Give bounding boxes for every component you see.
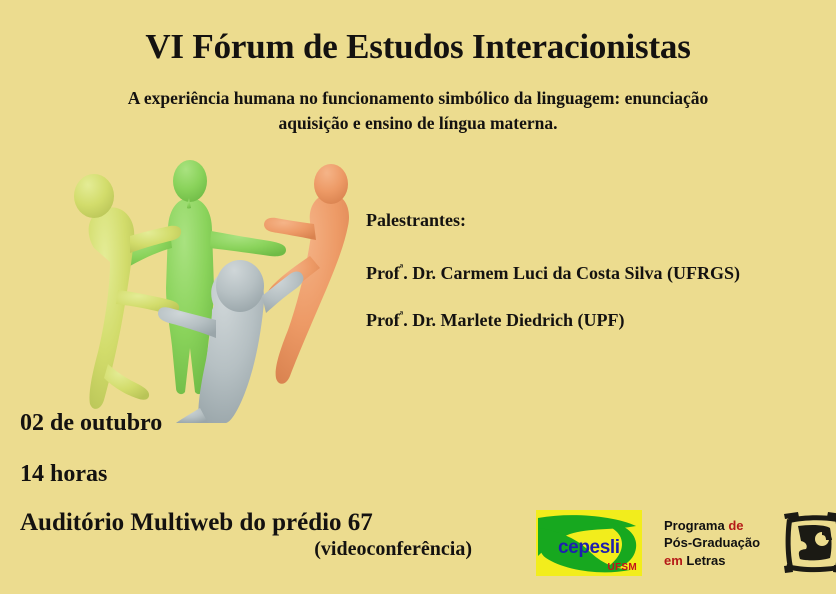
people-circle-illustration xyxy=(18,138,366,423)
speakers-block: Palestrantes: Profª. Dr. Carmem Luci da … xyxy=(366,210,826,331)
poster-canvas: VI Fórum de Estudos Interacionistas A ex… xyxy=(0,0,836,594)
ppg-de: de xyxy=(728,518,743,533)
figure-orange xyxy=(264,164,349,384)
speaker-prefix: Prof xyxy=(366,263,400,283)
figure-yellow xyxy=(74,174,181,409)
page-title: VI Fórum de Estudos Interacionistas xyxy=(0,28,836,67)
ppg-line-1: Programa de xyxy=(664,517,760,534)
letras-charcoal-square-mark xyxy=(782,508,836,578)
speaker-item: Profª. Dr. Carmem Luci da Costa Silva (U… xyxy=(366,263,826,284)
cepesli-wordmark: cepesli xyxy=(558,537,620,559)
speaker-prefix: Prof xyxy=(366,310,400,330)
ppg-line-3: em Letras xyxy=(664,552,760,569)
event-date: 02 de outubro xyxy=(20,410,490,437)
event-details: 02 de outubro 14 horas Auditório Multiwe… xyxy=(20,410,490,561)
event-venue-note: (videoconferência) xyxy=(20,538,490,561)
ppg-em: em xyxy=(664,553,686,568)
ppg-letras: Letras xyxy=(686,553,725,568)
speaker-name: . Dr. Carmem Luci da Costa Silva (UFRGS) xyxy=(403,263,740,283)
subtitle-line-2: aquisição e ensino de língua materna. xyxy=(40,111,796,136)
speakers-label: Palestrantes: xyxy=(366,210,826,231)
subtitle-line-1: A experiência humana no funcionamento si… xyxy=(40,86,796,111)
logo-row: cepesli UFSM Programa de Pós-Graduação e… xyxy=(536,504,828,582)
ppg-programa: Programa xyxy=(664,518,728,533)
ppg-letras-wordmark: Programa de Pós-Graduação em Letras xyxy=(664,517,760,569)
cepesli-institution-label: UFSM xyxy=(607,562,637,573)
ppg-line-2: Pós-Graduação xyxy=(664,534,760,551)
event-time: 14 horas xyxy=(20,461,490,488)
poster-subtitle: A experiência humana no funcionamento si… xyxy=(40,86,796,137)
event-venue: Auditório Multiweb do prédio 67 xyxy=(20,510,490,536)
cepesli-logo: cepesli UFSM xyxy=(536,510,642,576)
speaker-name: . Dr. Marlete Diedrich (UPF) xyxy=(403,310,624,330)
speaker-item: Profª. Dr. Marlete Diedrich (UPF) xyxy=(366,310,826,331)
